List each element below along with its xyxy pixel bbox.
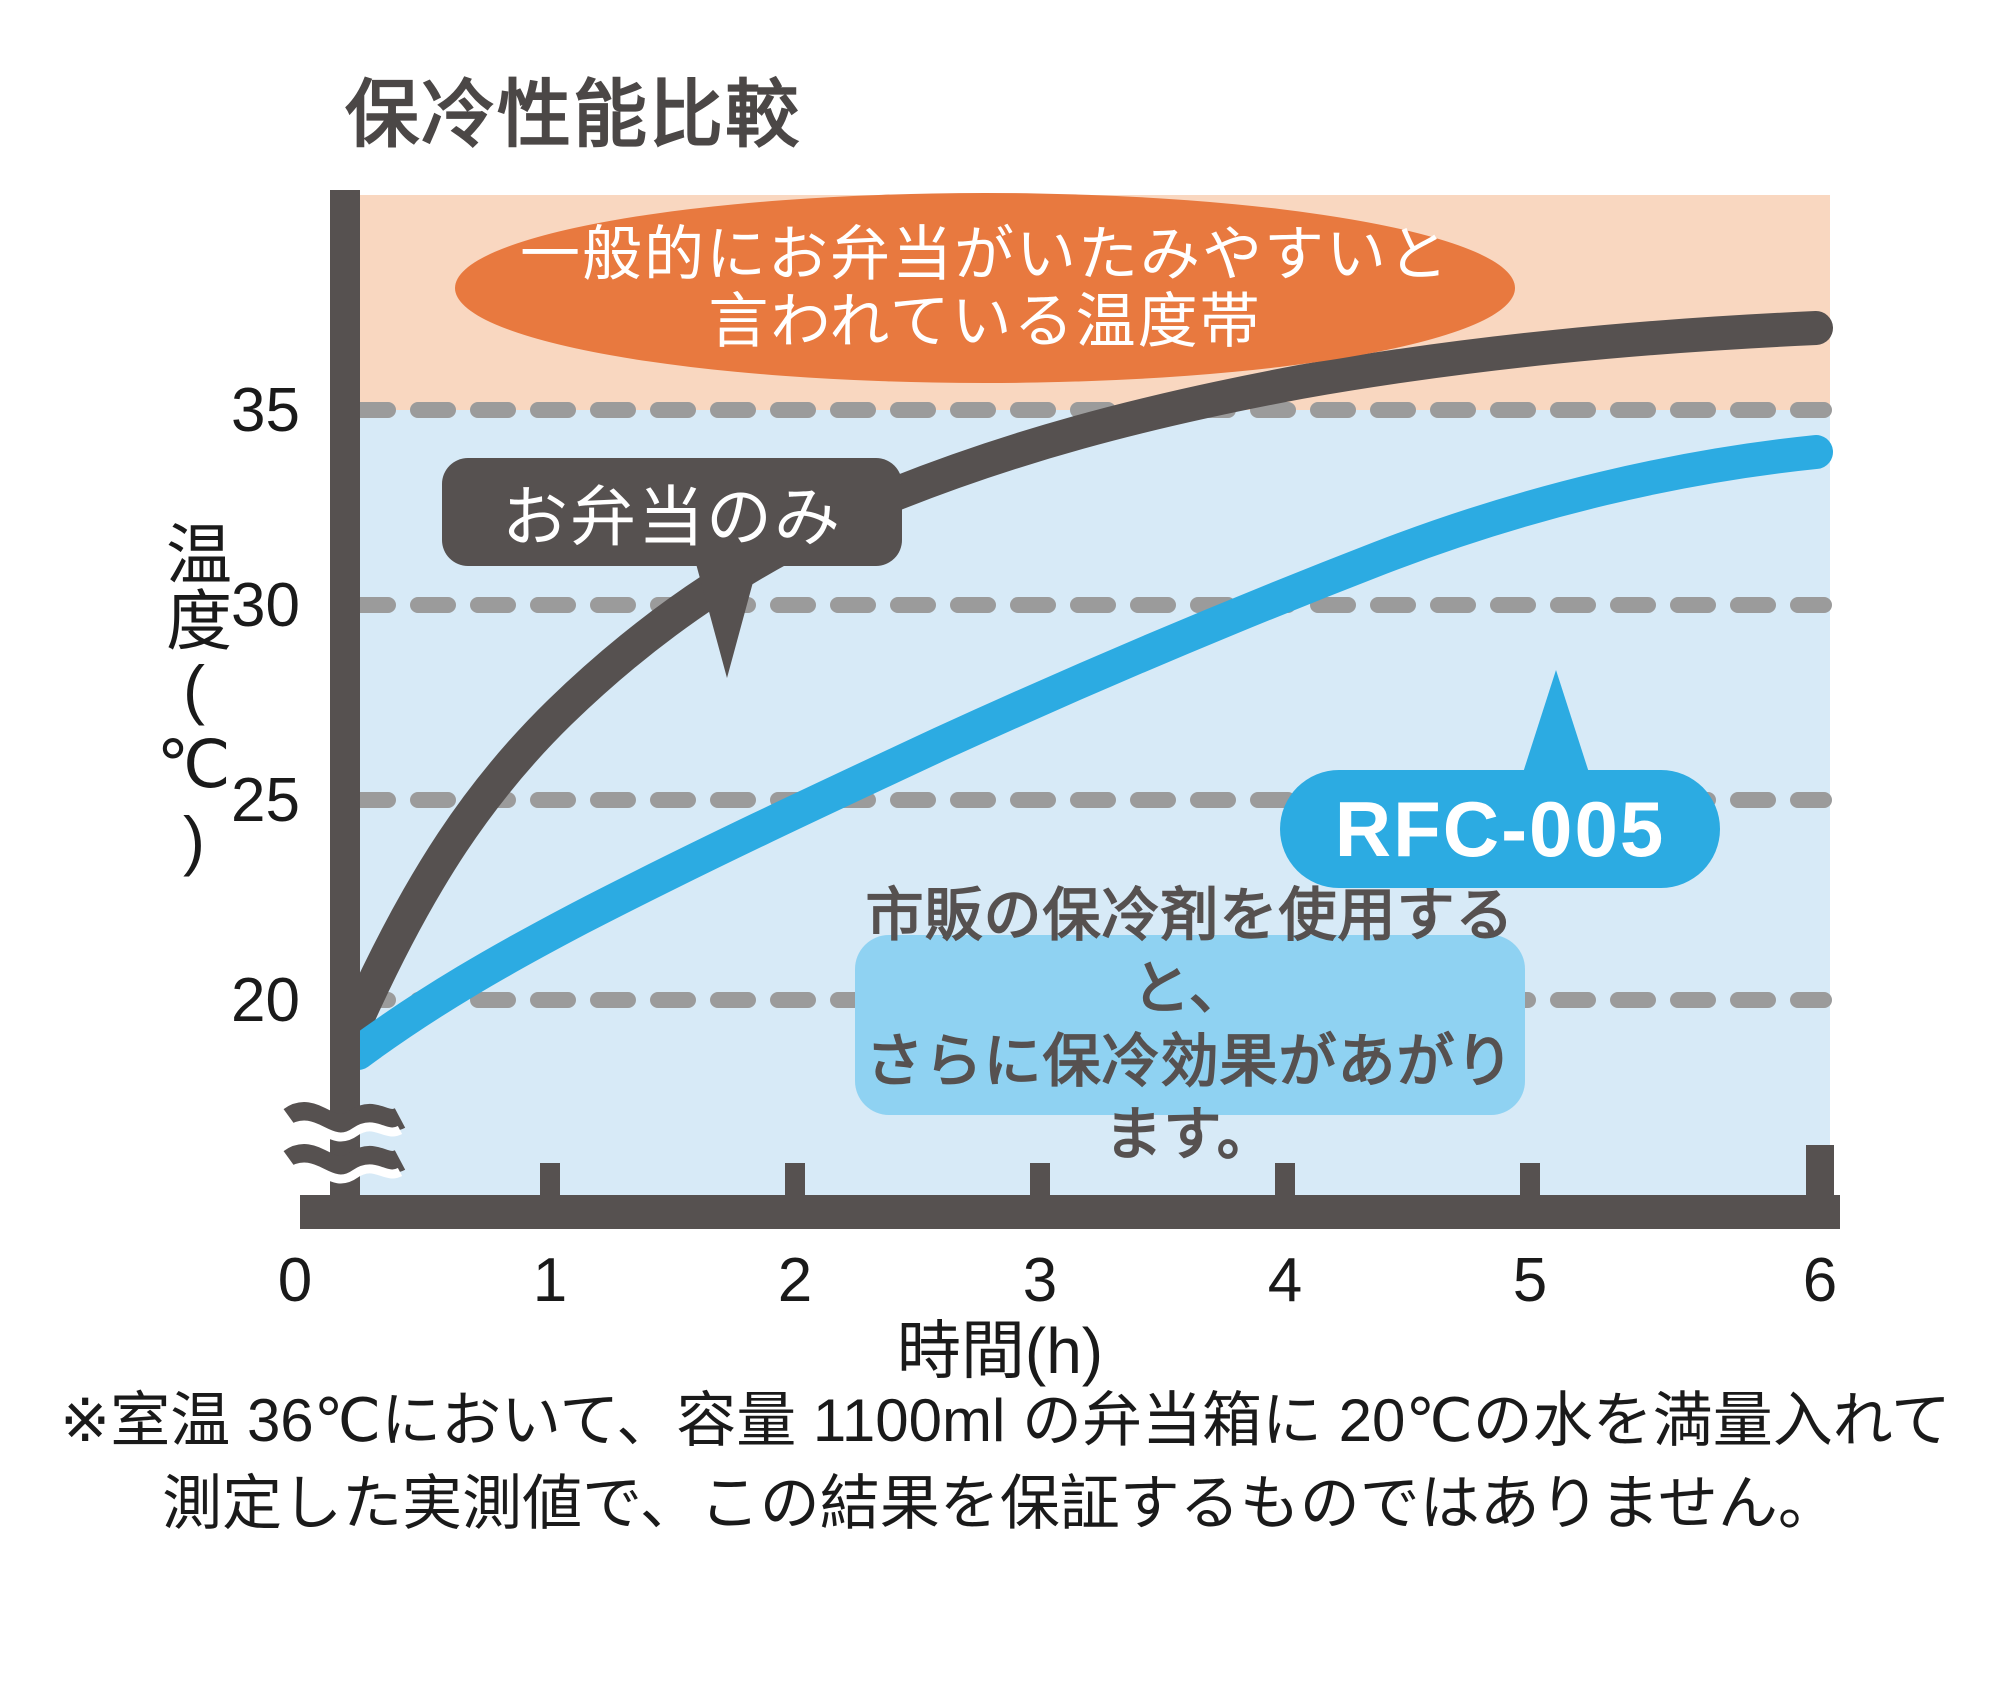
x-axis-title: 時間(h) — [0, 1300, 2000, 1392]
series-label-rfc005: RFC-005 — [1280, 770, 1720, 888]
danger-zone-label-line1: 一般的にお弁当がいたみやすいと — [520, 221, 1450, 288]
coolant-note-line1: 市販の保冷剤を使用すると、 — [855, 879, 1525, 1025]
series-label-bento-only: お弁当のみ — [442, 458, 902, 566]
footnote-line1: ※室温 36℃において、容量 1100ml の弁当箱に 20℃の水を満量入れて — [60, 1380, 1940, 1463]
footnote-line2: 測定した実測値で、この結果を保証するものではありません。 — [60, 1463, 1940, 1546]
danger-zone-label: 一般的にお弁当がいたみやすいと 言われている温度帯 — [455, 193, 1515, 383]
footnote: ※室温 36℃において、容量 1100ml の弁当箱に 20℃の水を満量入れて … — [60, 1380, 1940, 1546]
rfc005-pointer-icon — [1520, 670, 1592, 782]
y-tick-label-35: 35 — [160, 375, 300, 446]
x-axis-line — [300, 1195, 1840, 1229]
y-axis-title: 温度(℃) — [118, 520, 228, 877]
coolant-note-box: 市販の保冷剤を使用すると、 さらに保冷効果があがります。 — [855, 935, 1525, 1115]
y-axis-line — [330, 190, 360, 1200]
coolant-note-line2: さらに保冷効果があがります。 — [855, 1025, 1525, 1171]
y-tick-label-20: 20 — [160, 965, 300, 1036]
danger-zone-label-line2: 言われている温度帯 — [708, 288, 1261, 355]
bento-only-pointer-icon — [695, 560, 759, 678]
